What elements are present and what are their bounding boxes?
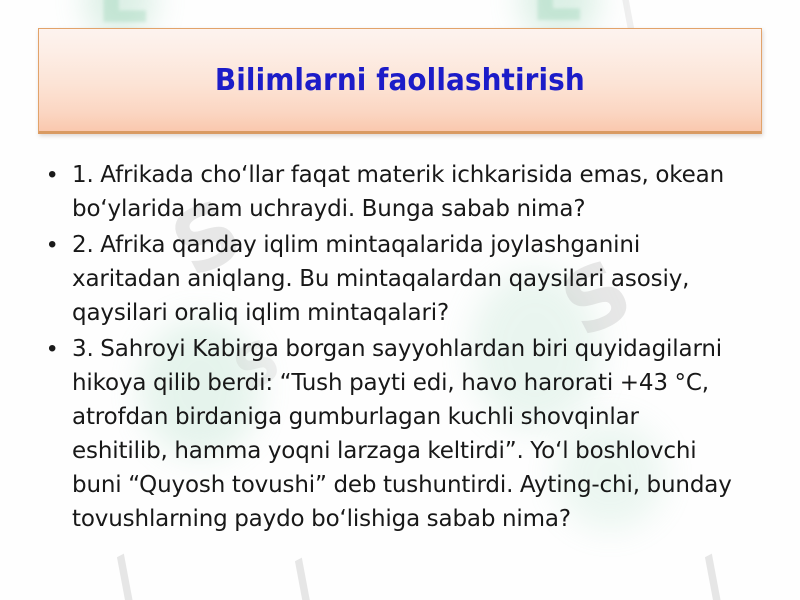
slide-canvas: L L S S S / / / / Bilimlarni faollashtir… (0, 0, 800, 600)
title-banner: Bilimlarni faollashtirish (38, 28, 762, 134)
bullet-text-3: 3. Sahroyi Kabirga borgan sayyohlardan b… (72, 332, 740, 536)
list-item: • 2. Afrika qanday iqlim mintaqalarida j… (40, 228, 760, 330)
list-item: • 3. Sahroyi Kabirga borgan sayyohlardan… (40, 332, 760, 536)
bullet-text-1: 1. Afrikada cho‘llar faqat materik ichka… (72, 158, 744, 226)
list-item: • 1. Afrikada cho‘llar faqat materik ich… (40, 158, 760, 226)
watermark-gray-6: / (685, 546, 742, 600)
watermark-gray-4: / (97, 546, 154, 600)
page-title: Bilimlarni faollashtirish (215, 63, 585, 98)
bullet-list: • 1. Afrikada cho‘llar faqat materik ich… (40, 158, 760, 538)
bullet-marker-icon: • (40, 228, 72, 262)
watermark-gray-5: / (275, 550, 332, 600)
bullet-marker-icon: • (40, 158, 72, 192)
bullet-text-2: 2. Afrika qanday iqlim mintaqalarida joy… (72, 228, 744, 330)
bullet-marker-icon: • (40, 332, 72, 366)
